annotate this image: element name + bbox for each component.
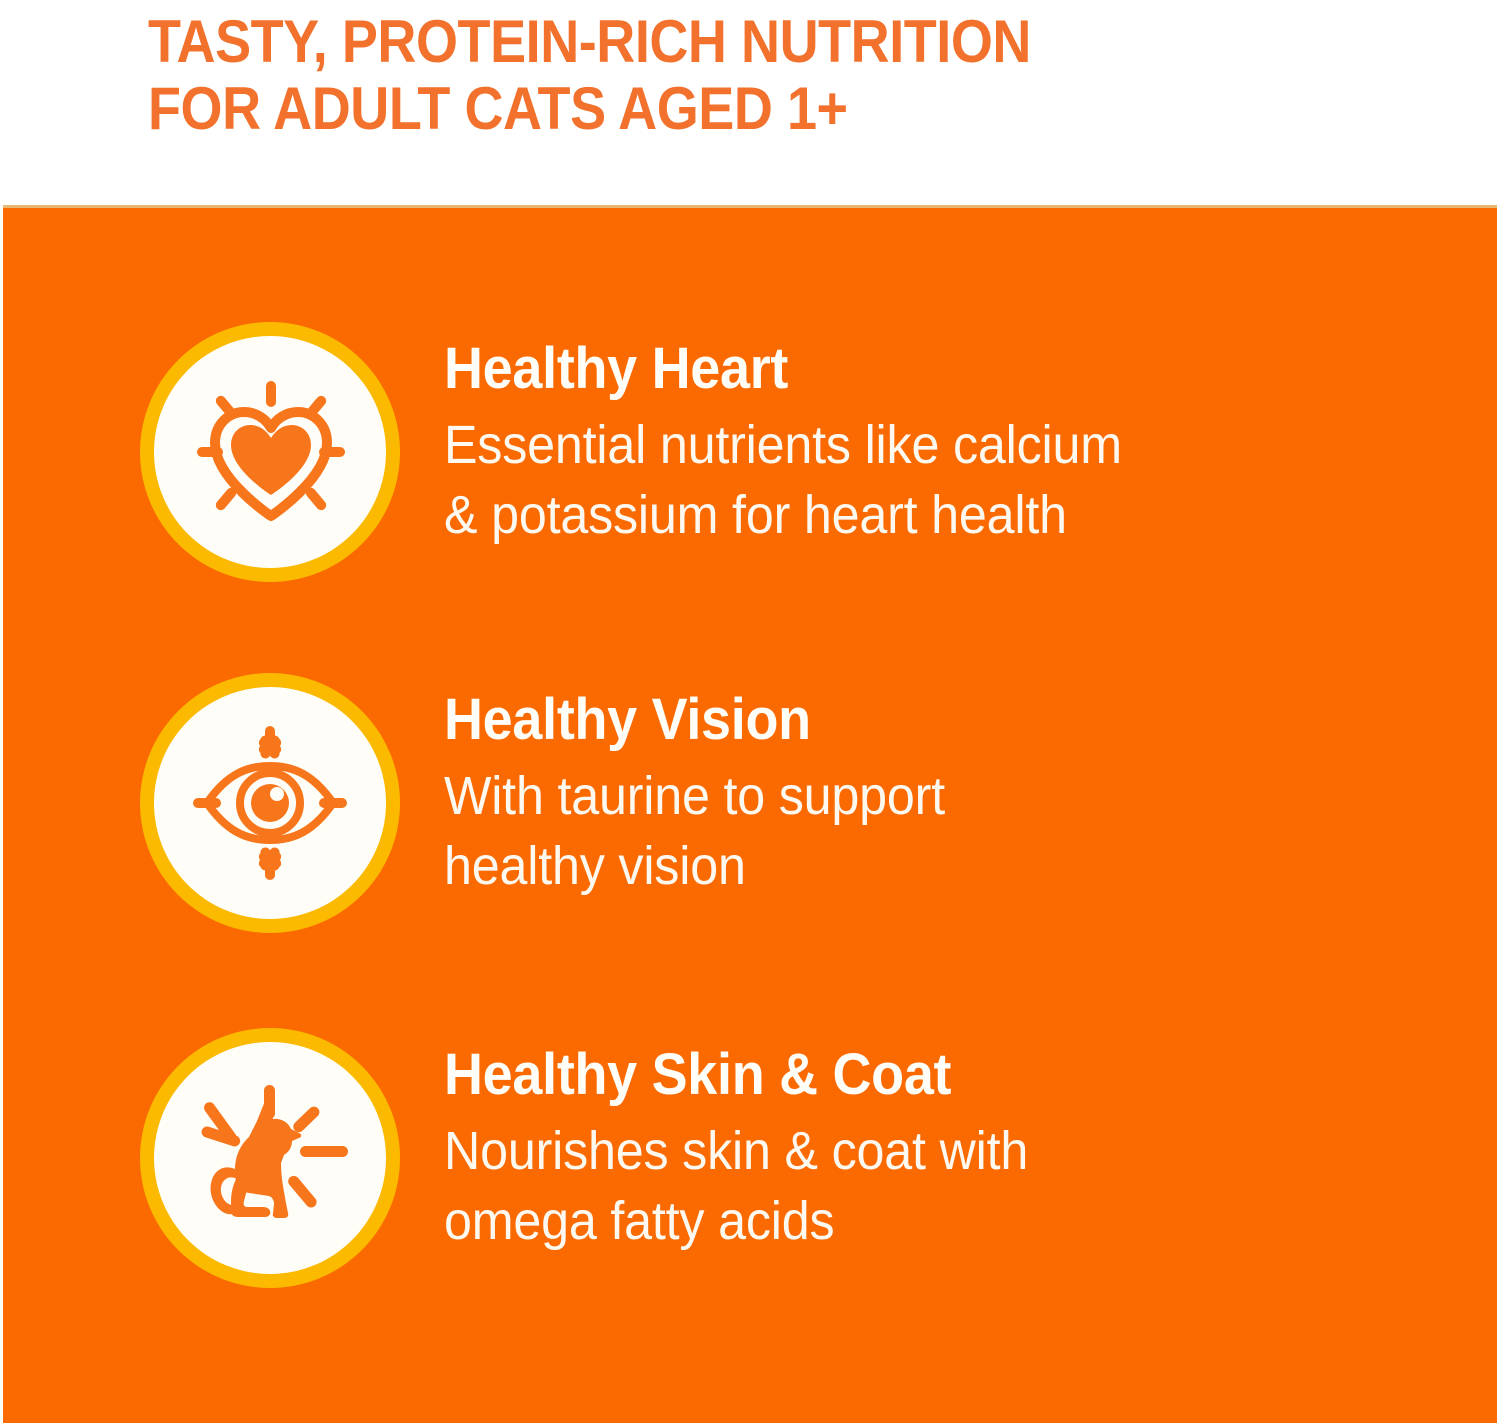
radiant-cat-icon — [185, 1073, 355, 1243]
feature-text-block: Healthy Heart Essential nutrients like c… — [444, 322, 1173, 550]
feature-badge — [140, 1028, 400, 1288]
badge-inner-circle — [154, 687, 386, 919]
radiant-heart-icon — [185, 367, 355, 537]
feature-description: Nourishes skin & coat with omega fatty a… — [444, 1116, 1028, 1256]
feature-text-block: Healthy Vision With taurine to support h… — [444, 673, 983, 901]
feature-row-healthy-skin-coat: Healthy Skin & Coat Nourishes skin & coa… — [3, 1028, 1497, 1328]
feature-title: Healthy Vision — [444, 691, 945, 749]
page-title: TASTY, PROTEIN-RICH NUTRITION FOR ADULT … — [148, 8, 1365, 142]
feature-description: With taurine to support healthy vision — [444, 761, 945, 901]
feature-row-healthy-vision: Healthy Vision With taurine to support h… — [3, 673, 1497, 973]
benefits-panel: Healthy Heart Essential nutrients like c… — [3, 205, 1497, 1423]
feature-row-healthy-heart: Healthy Heart Essential nutrients like c… — [3, 322, 1497, 622]
radiant-eye-icon — [185, 718, 355, 888]
badge-inner-circle — [154, 1042, 386, 1274]
feature-badge — [140, 322, 400, 582]
feature-badge — [140, 673, 400, 933]
feature-description: Essential nutrients like calcium & potas… — [444, 410, 1122, 550]
header-banner: TASTY, PROTEIN-RICH NUTRITION FOR ADULT … — [0, 0, 1500, 205]
badge-inner-circle — [154, 336, 386, 568]
feature-title: Healthy Skin & Coat — [444, 1046, 1028, 1104]
feature-title: Healthy Heart — [444, 340, 1122, 398]
feature-text-block: Healthy Skin & Coat Nourishes skin & coa… — [444, 1028, 1072, 1256]
